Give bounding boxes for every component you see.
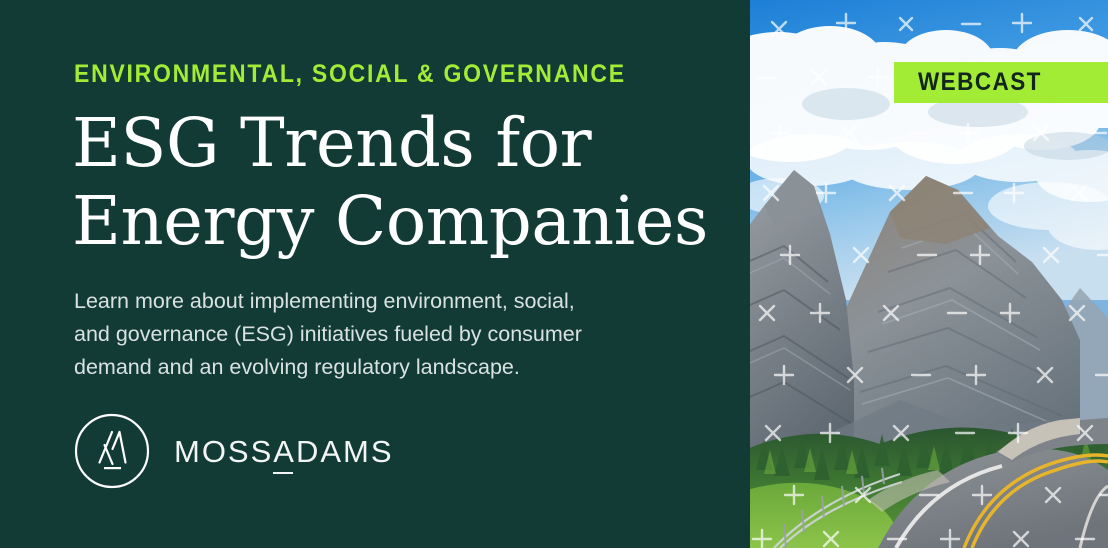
moss-adams-logo[interactable]: MOSSADAMS xyxy=(74,413,394,489)
moss-adams-wordmark: MOSSADAMS xyxy=(174,436,394,467)
headline-line-2: Energy Companies xyxy=(72,182,712,260)
content-panel: ENVIRONMENTAL, SOCIAL & GOVERNANCE ESG T… xyxy=(0,0,750,548)
page-title: ESG Trends for Energy Companies xyxy=(72,104,712,260)
description-line-1: Learn more about implementing environmen… xyxy=(74,285,694,318)
description-line-3: demand and an evolving regulatory landsc… xyxy=(74,351,694,384)
wordmark-part-1: MOSS xyxy=(174,434,273,469)
esg-webcast-banner: ENVIRONMENTAL, SOCIAL & GOVERNANCE ESG T… xyxy=(0,0,1108,548)
webcast-badge: WEBCAST xyxy=(894,62,1108,103)
wordmark-accent-letter: A xyxy=(273,436,296,467)
description-text: Learn more about implementing environmen… xyxy=(74,285,694,384)
webcast-badge-label: WEBCAST xyxy=(918,68,1042,97)
wordmark-part-2: DAMS xyxy=(296,434,394,469)
moss-adams-monogram-icon xyxy=(74,413,150,489)
headline-line-1: ESG Trends for xyxy=(72,104,712,182)
eyebrow-category-label: ENVIRONMENTAL, SOCIAL & GOVERNANCE xyxy=(74,62,626,87)
description-line-2: and governance (ESG) initiatives fueled … xyxy=(74,318,694,351)
hero-photo-panel: WEBCAST xyxy=(750,0,1108,548)
